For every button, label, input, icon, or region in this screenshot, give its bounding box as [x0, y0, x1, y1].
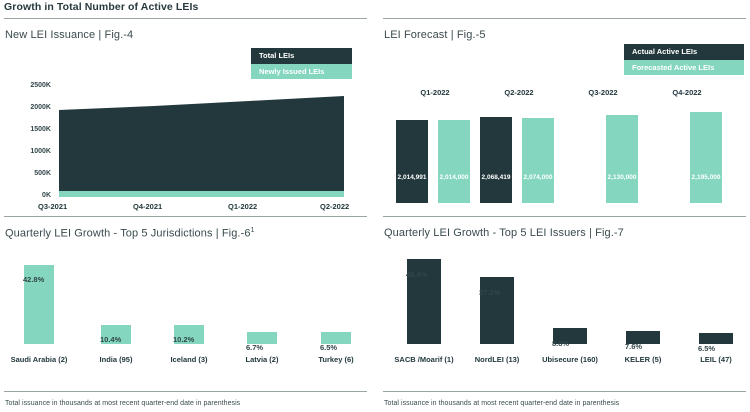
- area-series-newly-issued-leis: [59, 191, 344, 197]
- bar-category-turkey: Turkey (6): [296, 355, 376, 364]
- legend-item-newly-issued-leis[interactable]: Newly Issued LEIs: [251, 64, 352, 80]
- bar-value-q4-forecast: 2,195,000: [692, 174, 721, 181]
- bar-category-leil: LEIL (47): [676, 355, 750, 364]
- panel-new-lei-issuance: New LEI Issuance | Fig.-4 Total LEIs New…: [0, 18, 371, 210]
- legend-item-forecasted-active-leis[interactable]: Forecasted Active LEIs: [624, 60, 744, 76]
- bar-category-keler: KELER (5): [603, 355, 683, 364]
- bar-value-leil: 6.5%: [698, 344, 715, 353]
- panel-title-fig5: LEI Forecast | Fig.-5: [384, 29, 486, 41]
- panel-divider-bottom: [383, 391, 746, 392]
- panel-divider-top: [383, 18, 746, 19]
- panel-divider-top: [4, 18, 367, 19]
- area-chart-svg: [59, 85, 344, 198]
- legend-item-total-leis[interactable]: Total LEIs: [251, 48, 352, 64]
- bar-value-iceland: 10.2%: [173, 335, 194, 344]
- panel-title-fig6: Quarterly LEI Growth - Top 5 Jurisdictio…: [5, 227, 255, 240]
- footnote-fig7: Total issuance in thousands at most rece…: [384, 400, 619, 407]
- panel-divider-bottom: [4, 391, 367, 392]
- x-label-q2-2022: Q2-2022: [320, 202, 349, 211]
- x-label-q3-2021: Q3-2021: [38, 202, 67, 211]
- y-tick-500k: 500K: [5, 170, 51, 177]
- legend-fig5: Actual Active LEIs Forecasted Active LEI…: [624, 44, 744, 75]
- bar-category-nordlei: NordLEI (13): [457, 355, 537, 364]
- bar-value-sacb-moarif: 46.4%: [406, 270, 427, 279]
- bar-value-q2-actual: 2,068,419: [482, 174, 511, 181]
- bar-value-keler: 7.6%: [625, 342, 642, 351]
- bar-q1-forecast[interactable]: 2,014,000: [438, 120, 470, 203]
- bar-chart-fig7: 46.4% SACB /Moarif (1) 37.2% NordLEI (13…: [385, 261, 745, 366]
- bar-value-ubisecure: 8.8%: [552, 339, 569, 348]
- bar-value-turkey: 6.5%: [320, 343, 337, 352]
- panel-title-fig6-footnote-marker: 1: [251, 227, 255, 234]
- x-label-q4-2021: Q4-2021: [133, 202, 162, 211]
- y-tick-1500k: 1500K: [5, 126, 51, 133]
- bar-chart-fig6: 42.8% Saudi Arabia (2) 10.4% India (95) …: [6, 261, 366, 366]
- group-label-q1-2022: Q1-2022: [391, 88, 479, 97]
- area-chart-fig4: [59, 85, 344, 198]
- bar-value-latvia: 6.7%: [246, 343, 263, 352]
- bar-value-q2-forecast: 2,074,000: [524, 174, 553, 181]
- bar-value-q1-forecast: 2,014,000: [440, 174, 469, 181]
- group-label-q3-2022: Q3-2022: [559, 88, 647, 97]
- lei-dashboard: Growth in Total Number of Active LEIs Ne…: [0, 0, 750, 412]
- bar-chart-fig5: 2,014,991 2,014,000 2,068,419 2,074,000 …: [387, 118, 742, 203]
- page-title: Growth in Total Number of Active LEIs: [4, 1, 198, 13]
- panel-title-fig7: Quarterly LEI Growth - Top 5 LEI Issuers…: [384, 227, 624, 239]
- y-tick-2500k: 2500K: [5, 82, 51, 89]
- panel-top5-lei-issuers: Quarterly LEI Growth - Top 5 LEI Issuers…: [379, 216, 750, 412]
- bar-q3-forecast[interactable]: 2,130,000: [606, 115, 638, 203]
- panel-divider-top: [383, 216, 746, 217]
- area-series-total-leis: [59, 96, 344, 191]
- bar-category-sacb-moarif: SACB /Moarif (1): [384, 355, 464, 364]
- legend-fig4: Total LEIs Newly Issued LEIs: [251, 48, 352, 79]
- group-label-q4-2022: Q4-2022: [643, 88, 731, 97]
- bar-value-saudi-arabia: 42.8%: [23, 275, 44, 284]
- panel-title-fig4: New LEI Issuance | Fig.-4: [5, 29, 133, 41]
- legend-item-actual-active-leis[interactable]: Actual Active LEIs: [624, 44, 744, 60]
- footnote-fig6: Total issuance in thousands at most rece…: [5, 400, 240, 407]
- group-label-q2-2022: Q2-2022: [475, 88, 563, 97]
- bar-value-nordlei: 37.2%: [479, 288, 500, 297]
- bar-q2-actual[interactable]: 2,068,419: [480, 117, 512, 203]
- bar-q1-actual[interactable]: 2,014,991: [396, 120, 428, 203]
- bar-q4-forecast[interactable]: 2,195,000: [690, 112, 722, 203]
- bar-value-q1-actual: 2,014,991: [398, 174, 427, 181]
- bar-leil[interactable]: [699, 333, 733, 344]
- bar-category-saudi-arabia: Saudi Arabia (2): [0, 355, 79, 364]
- bar-value-q3-forecast: 2,130,000: [608, 174, 637, 181]
- panel-divider-top: [4, 216, 367, 217]
- bar-category-iceland: Iceland (3): [149, 355, 229, 364]
- panel-lei-forecast: LEI Forecast | Fig.-5 Actual Active LEIs…: [379, 18, 750, 210]
- y-tick-1000k: 1000K: [5, 148, 51, 155]
- x-label-q1-2022: Q1-2022: [228, 202, 257, 211]
- y-tick-2000k: 2000K: [5, 104, 51, 111]
- bar-value-india: 10.4%: [100, 335, 121, 344]
- panel-title-fig6-text: Quarterly LEI Growth - Top 5 Jurisdictio…: [5, 228, 251, 240]
- bar-category-india: India (95): [76, 355, 156, 364]
- bar-category-latvia: Latvia (2): [222, 355, 302, 364]
- bar-q2-forecast[interactable]: 2,074,000: [522, 118, 554, 203]
- y-tick-0k: 0K: [5, 192, 51, 199]
- bar-category-ubisecure: Ubisecure (160): [530, 355, 610, 364]
- panel-top5-jurisdictions: Quarterly LEI Growth - Top 5 Jurisdictio…: [0, 216, 371, 412]
